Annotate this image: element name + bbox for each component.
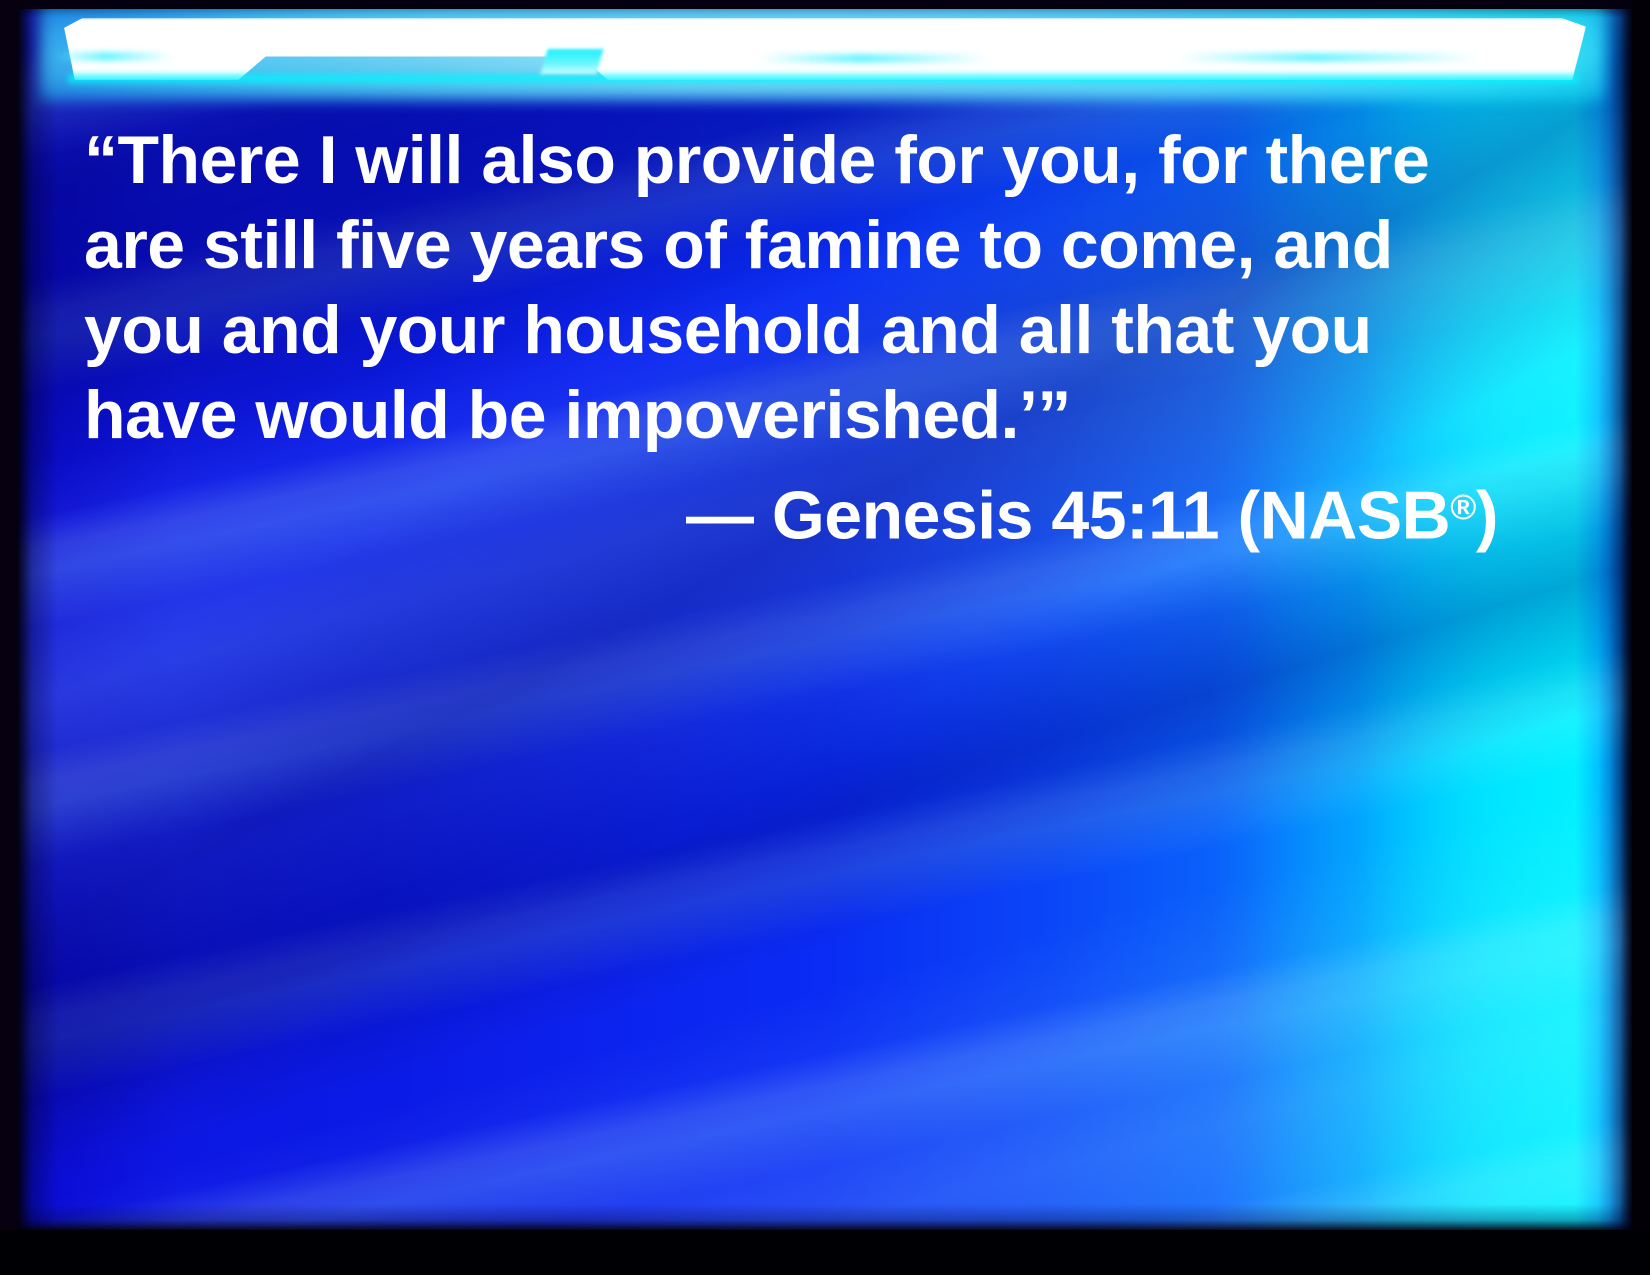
header-cyan-underglow <box>68 72 1578 86</box>
verse-line-4: have would be impoverished.’” <box>84 373 1504 458</box>
verse-line-1: “There I will also provide for you, for … <box>84 118 1504 203</box>
attribution-prefix: — Genesis 45:11 (NASB <box>686 477 1450 553</box>
header-cyan-notch <box>540 49 603 74</box>
attribution-suffix: ) <box>1476 477 1498 553</box>
header-cyan-wisp-middle <box>758 54 988 63</box>
header-cyan-wisp-left <box>52 52 172 61</box>
frame-edge-bottom <box>0 1230 1650 1275</box>
frame-edge-right <box>1632 0 1650 1275</box>
verse-attribution: — Genesis 45:11 (NASB®) <box>84 458 1504 558</box>
scripture-quote-slide: “There I will also provide for you, for … <box>0 0 1650 1275</box>
verse-line-3: you and your household and all that you <box>84 288 1504 373</box>
verse-line-2: are still five years of famine to come, … <box>84 203 1504 288</box>
header-banner <box>58 18 1586 80</box>
verse-text-block: “There I will also provide for you, for … <box>84 118 1504 558</box>
header-cyan-wisp-right <box>1178 53 1478 62</box>
registered-trademark-icon: ® <box>1450 488 1476 527</box>
frame-edge-left <box>0 0 18 1275</box>
frame-edge-top <box>0 0 1650 9</box>
